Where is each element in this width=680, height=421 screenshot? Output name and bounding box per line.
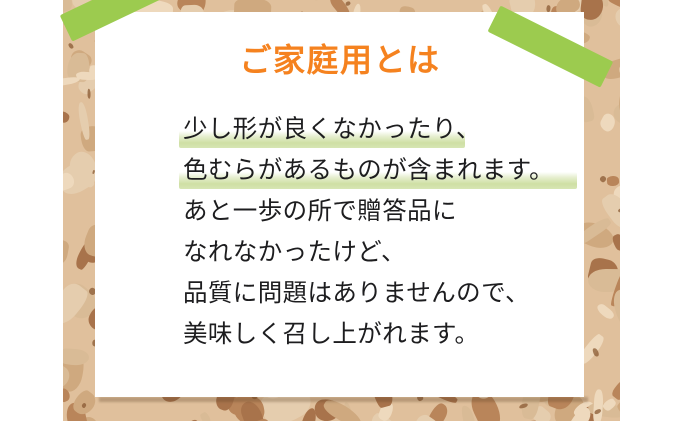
body-line-3-text: あと一歩の所で贈答品に [183, 196, 457, 225]
body-line-1-text: 少し形が良くなかったり、 [183, 114, 481, 143]
body-text: 少し形が良くなかったり、 色むらがあるものが含まれます。 あと一歩の所で贈答品に… [183, 108, 583, 354]
body-line-2: 色むらがあるものが含まれます。 [183, 149, 583, 190]
body-line-4: なれなかったけど、 [183, 231, 583, 272]
body-line-4-text: なれなかったけど、 [183, 237, 406, 266]
card-shadow [99, 397, 588, 402]
page-title: ご家庭用とは [0, 44, 680, 76]
body-line-5: 品質に問題はありませんので、 [183, 272, 583, 313]
body-line-3: あと一歩の所で贈答品に [183, 190, 583, 231]
body-line-2-text: 色むらがあるものが含まれます。 [183, 155, 554, 184]
body-line-6: 美味しく召し上がれます。 [183, 313, 583, 354]
body-line-6-text: 美味しく召し上がれます。 [183, 319, 479, 348]
promo-banner: ご家庭用とは 少し形が良くなかったり、 色むらがあるものが含まれます。 あと一歩… [0, 0, 680, 421]
body-line-1: 少し形が良くなかったり、 [183, 108, 583, 149]
body-line-5-text: 品質に問題はありませんので、 [183, 278, 530, 307]
